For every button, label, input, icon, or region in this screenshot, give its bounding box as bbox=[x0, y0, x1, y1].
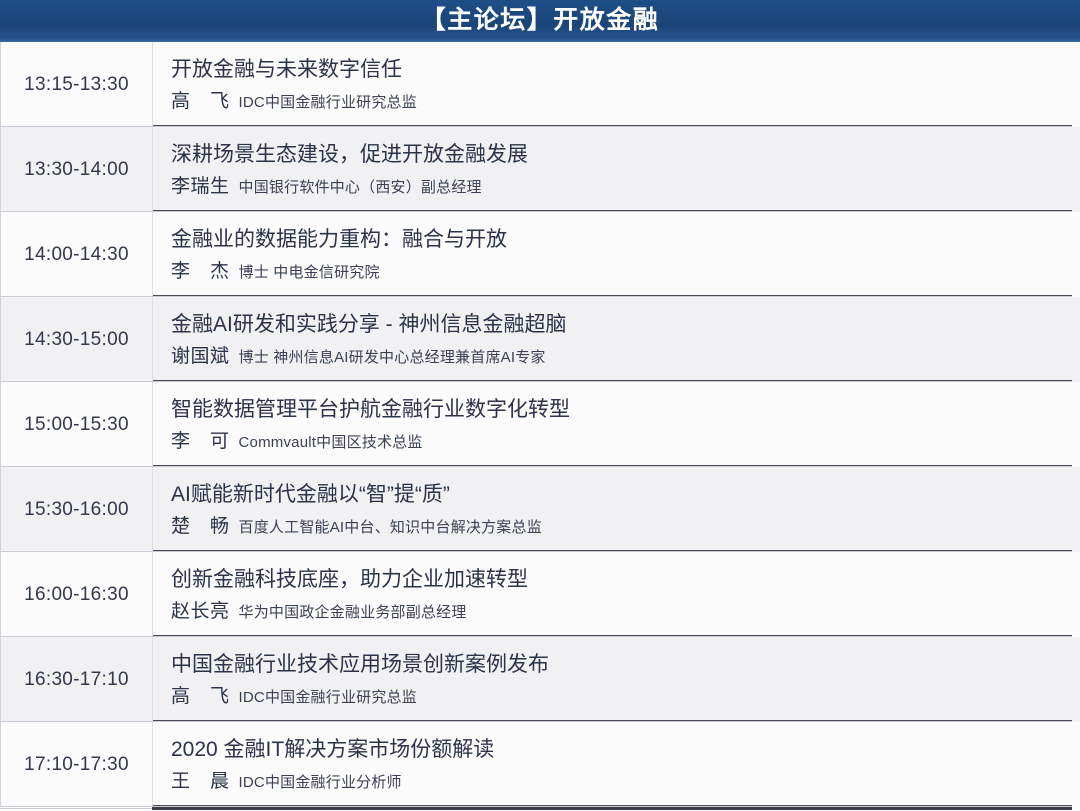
session-title: 智能数据管理平台护航金融行业数字化转型 bbox=[171, 396, 1080, 424]
bottom-rule-thin bbox=[0, 808, 152, 809]
agenda-row[interactable]: 13:15-13:30开放金融与未来数字信任高 飞IDC中国金融行业研究总监 bbox=[1, 42, 1080, 127]
session-title: 开放金融与未来数字信任 bbox=[171, 56, 1080, 84]
speaker-line: 高 飞IDC中国金融行业研究总监 bbox=[171, 681, 1080, 708]
session-info-cell: AI赋能新时代金融以“智”提“质”楚 畅百度人工智能AI中台、知识中台解决方案总… bbox=[153, 467, 1080, 552]
speaker-line: 高 飞IDC中国金融行业研究总监 bbox=[171, 86, 1080, 113]
speaker-name: 谢国斌 bbox=[171, 341, 230, 368]
session-time: 14:00-14:30 bbox=[24, 244, 129, 266]
agenda-row[interactable]: 16:00-16:30创新金融科技底座，助力企业加速转型赵长亮华为中国政企金融业… bbox=[1, 552, 1080, 637]
speaker-role: Commvault中国区技术总监 bbox=[239, 431, 423, 452]
agenda-table: 13:15-13:30开放金融与未来数字信任高 飞IDC中国金融行业研究总监13… bbox=[0, 42, 1080, 807]
agenda-row[interactable]: 14:00-14:30金融业的数据能力重构：融合与开放李 杰博士 中电金信研究院 bbox=[1, 212, 1080, 297]
speaker-role: IDC中国金融行业分析师 bbox=[239, 771, 402, 792]
speaker-role: 百度人工智能AI中台、知识中台解决方案总监 bbox=[239, 516, 542, 537]
speaker-line: 李 杰博士 中电金信研究院 bbox=[171, 256, 1080, 283]
session-time: 15:30-16:00 bbox=[24, 499, 129, 521]
session-time-cell: 15:30-16:00 bbox=[1, 467, 153, 552]
speaker-role: 中国银行软件中心（西安）副总经理 bbox=[239, 176, 482, 197]
agenda-page: 【主论坛】开放金融 13:15-13:30开放金融与未来数字信任高 飞IDC中国… bbox=[0, 0, 1080, 811]
speaker-role: IDC中国金融行业研究总监 bbox=[239, 91, 417, 112]
speaker-name: 王 晨 bbox=[171, 766, 230, 793]
session-title: AI赋能新时代金融以“智”提“质” bbox=[171, 481, 1080, 509]
session-time: 17:10-17:30 bbox=[24, 754, 129, 776]
session-title: 2020 金融IT解决方案市场份额解读 bbox=[171, 736, 1080, 764]
forum-header-banner: 【主论坛】开放金融 bbox=[0, 0, 1080, 42]
session-time: 13:30-14:00 bbox=[24, 159, 129, 181]
speaker-role: 博士 中电金信研究院 bbox=[239, 261, 380, 282]
session-info-cell: 金融AI研发和实践分享 - 神州信息金融超脑谢国斌博士 神州信息AI研发中心总经… bbox=[153, 297, 1080, 382]
speaker-line: 赵长亮华为中国政企金融业务部副总经理 bbox=[171, 596, 1080, 623]
session-time: 15:00-15:30 bbox=[24, 414, 129, 436]
page-title: 【主论坛】开放金融 bbox=[421, 8, 660, 33]
session-title: 深耕场景生态建设，促进开放金融发展 bbox=[171, 141, 1080, 169]
session-time-cell: 14:30-15:00 bbox=[1, 297, 153, 382]
session-info-cell: 中国金融行业技术应用场景创新案例发布高 飞IDC中国金融行业研究总监 bbox=[153, 637, 1080, 722]
session-time: 16:00-16:30 bbox=[24, 584, 129, 606]
session-title: 创新金融科技底座，助力企业加速转型 bbox=[171, 566, 1080, 594]
session-title: 金融业的数据能力重构：融合与开放 bbox=[171, 226, 1080, 254]
session-time: 16:30-17:10 bbox=[24, 669, 129, 691]
agenda-row[interactable]: 15:30-16:00AI赋能新时代金融以“智”提“质”楚 畅百度人工智能AI中… bbox=[1, 467, 1080, 552]
speaker-line: 李瑞生中国银行软件中心（西安）副总经理 bbox=[171, 171, 1080, 198]
speaker-role: IDC中国金融行业研究总监 bbox=[239, 686, 417, 707]
session-info-cell: 开放金融与未来数字信任高 飞IDC中国金融行业研究总监 bbox=[153, 42, 1080, 127]
speaker-name: 李瑞生 bbox=[171, 171, 230, 198]
speaker-name: 李 可 bbox=[171, 426, 230, 453]
session-info-cell: 深耕场景生态建设，促进开放金融发展李瑞生中国银行软件中心（西安）副总经理 bbox=[153, 127, 1080, 212]
session-info-cell: 智能数据管理平台护航金融行业数字化转型李 可Commvault中国区技术总监 bbox=[153, 382, 1080, 467]
speaker-name: 李 杰 bbox=[171, 256, 230, 283]
speaker-name: 高 飞 bbox=[171, 86, 230, 113]
session-time-cell: 17:10-17:30 bbox=[1, 722, 153, 807]
speaker-line: 李 可Commvault中国区技术总监 bbox=[171, 426, 1080, 453]
speaker-line: 王 晨IDC中国金融行业分析师 bbox=[171, 766, 1080, 793]
bottom-rules bbox=[0, 807, 1080, 811]
speaker-name: 高 飞 bbox=[171, 681, 230, 708]
session-time: 14:30-15:00 bbox=[24, 329, 129, 351]
agenda-row[interactable]: 13:30-14:00深耕场景生态建设，促进开放金融发展李瑞生中国银行软件中心（… bbox=[1, 127, 1080, 212]
speaker-name: 楚 畅 bbox=[171, 511, 230, 538]
session-time-cell: 16:30-17:10 bbox=[1, 637, 153, 722]
agenda-row[interactable]: 14:30-15:00金融AI研发和实践分享 - 神州信息金融超脑谢国斌博士 神… bbox=[1, 297, 1080, 382]
session-time-cell: 13:15-13:30 bbox=[1, 42, 153, 127]
session-info-cell: 创新金融科技底座，助力企业加速转型赵长亮华为中国政企金融业务部副总经理 bbox=[153, 552, 1080, 637]
bottom-rule-thick bbox=[152, 807, 1072, 810]
speaker-line: 楚 畅百度人工智能AI中台、知识中台解决方案总监 bbox=[171, 511, 1080, 538]
session-info-cell: 2020 金融IT解决方案市场份额解读王 晨IDC中国金融行业分析师 bbox=[153, 722, 1080, 807]
session-time-cell: 13:30-14:00 bbox=[1, 127, 153, 212]
agenda-row[interactable]: 17:10-17:302020 金融IT解决方案市场份额解读王 晨IDC中国金融… bbox=[1, 722, 1080, 807]
session-info-cell: 金融业的数据能力重构：融合与开放李 杰博士 中电金信研究院 bbox=[153, 212, 1080, 297]
session-time-cell: 14:00-14:30 bbox=[1, 212, 153, 297]
speaker-role: 华为中国政企金融业务部副总经理 bbox=[239, 601, 467, 622]
agenda-row[interactable]: 15:00-15:30智能数据管理平台护航金融行业数字化转型李 可Commvau… bbox=[1, 382, 1080, 467]
session-time: 13:15-13:30 bbox=[24, 74, 129, 96]
session-title: 中国金融行业技术应用场景创新案例发布 bbox=[171, 651, 1080, 679]
speaker-name: 赵长亮 bbox=[171, 596, 230, 623]
session-time-cell: 15:00-15:30 bbox=[1, 382, 153, 467]
speaker-line: 谢国斌博士 神州信息AI研发中心总经理兼首席AI专家 bbox=[171, 341, 1080, 368]
speaker-role: 博士 神州信息AI研发中心总经理兼首席AI专家 bbox=[239, 346, 546, 367]
session-title: 金融AI研发和实践分享 - 神州信息金融超脑 bbox=[171, 311, 1080, 339]
session-time-cell: 16:00-16:30 bbox=[1, 552, 153, 637]
agenda-row[interactable]: 16:30-17:10中国金融行业技术应用场景创新案例发布高 飞IDC中国金融行… bbox=[1, 637, 1080, 722]
